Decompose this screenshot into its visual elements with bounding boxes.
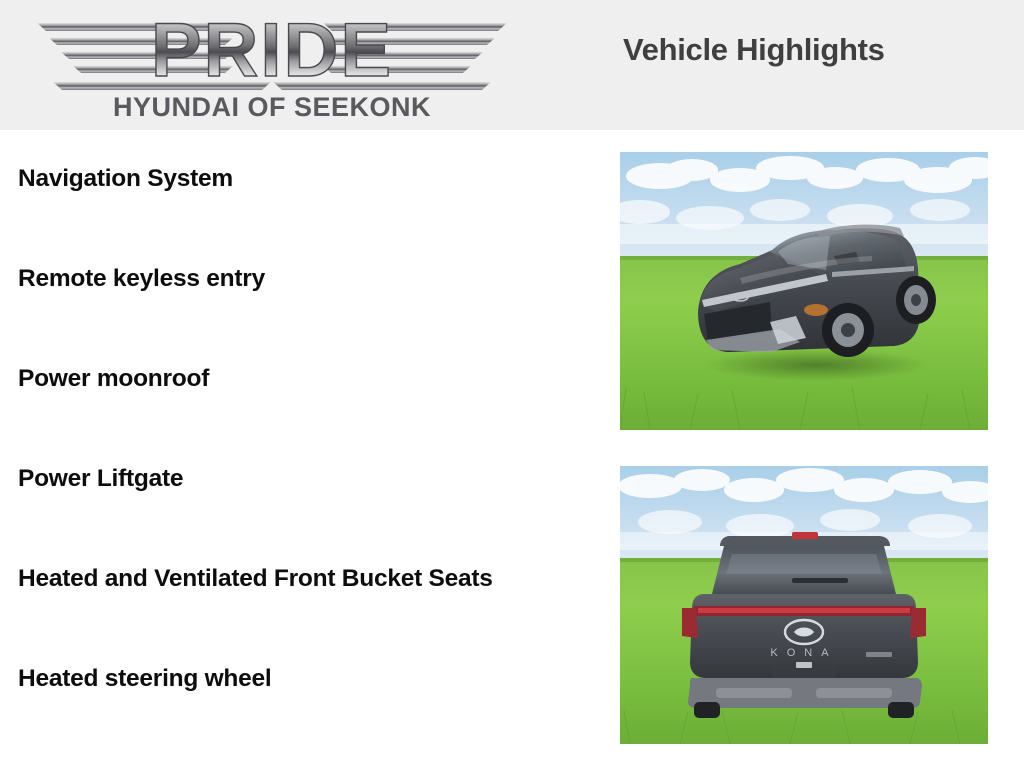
vehicle-image-front-three-quarter[interactable] (620, 152, 988, 430)
logo-dealer-name: HYUNDAI OF SEEKONK (113, 92, 431, 122)
feature-item: Heated and Ventilated Front Bucket Seats (18, 540, 578, 640)
page-header: PRIDE HYUNDAI OF SEEKONK Vehicle Highlig… (0, 0, 1024, 130)
feature-item: Heated steering wheel (18, 640, 578, 740)
pride-hyundai-logo: PRIDE HYUNDAI OF SEEKONK (22, 6, 522, 124)
feature-item: Power Liftgate (18, 440, 578, 540)
vehicle-shadow (704, 349, 928, 381)
vehicle-highlights-list: Navigation System Remote keyless entry P… (18, 140, 578, 740)
logo-pride-text: PRIDE (151, 8, 393, 93)
vehicle-image-rear[interactable]: KONA (620, 466, 988, 744)
vehicle-highlights-page: PRIDE HYUNDAI OF SEEKONK Vehicle Highlig… (0, 0, 1024, 768)
feature-item: Power moonroof (18, 340, 578, 440)
kona-badge-text: KONA (770, 647, 837, 659)
feature-item: Remote keyless entry (18, 240, 578, 340)
feature-item: Navigation System (18, 140, 578, 240)
page-title: Vehicle Highlights (623, 32, 885, 68)
